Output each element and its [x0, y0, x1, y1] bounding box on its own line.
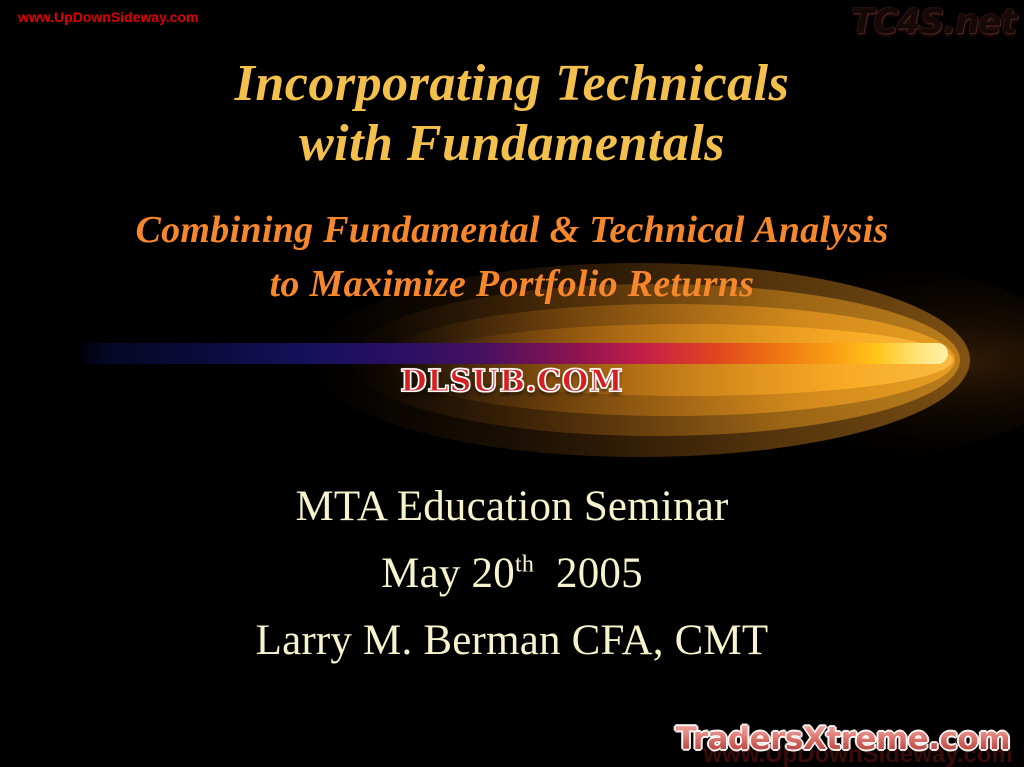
watermark-dlsub-text: DLSUB.COM — [401, 364, 624, 399]
date-ordinal-suffix: th — [515, 552, 534, 578]
subtitle-line-1: Combining Fundamental & Technical Analys… — [0, 203, 1024, 257]
presentation-slide: www.UpDownSideway.com TC4S.net — [0, 0, 1024, 767]
watermark-dlsub: DLSUB.COM — [0, 364, 1024, 399]
body-line-date: May 20th 2005 — [0, 540, 1024, 607]
date-month: May — [381, 550, 460, 597]
watermark-tc4s: TC4S.net — [851, 2, 1016, 42]
body-line-seminar: MTA Education Seminar — [0, 473, 1024, 540]
title-line-2: with Fundamentals — [0, 114, 1024, 174]
slide-title: Incorporating Technicals with Fundamenta… — [0, 54, 1024, 174]
body-line-presenter: Larry M. Berman CFA, CMT — [0, 607, 1024, 674]
slide-subtitle: Combining Fundamental & Technical Analys… — [0, 203, 1024, 311]
watermark-updownsideway: www.UpDownSideway.com — [18, 9, 198, 25]
slide-body: MTA Education Seminar May 20th 2005 Larr… — [0, 473, 1024, 674]
date-year: 2005 — [556, 550, 643, 597]
watermark-tradersxtreme-text: TradersXtreme.com — [675, 721, 1010, 757]
title-line-1: Incorporating Technicals — [0, 54, 1024, 114]
watermark-tradersxtreme: www.UpDownSideway.com TradersXtreme.com — [675, 721, 1010, 757]
date-day: 20 — [472, 550, 515, 597]
subtitle-line-2: to Maximize Portfolio Returns — [0, 257, 1024, 311]
